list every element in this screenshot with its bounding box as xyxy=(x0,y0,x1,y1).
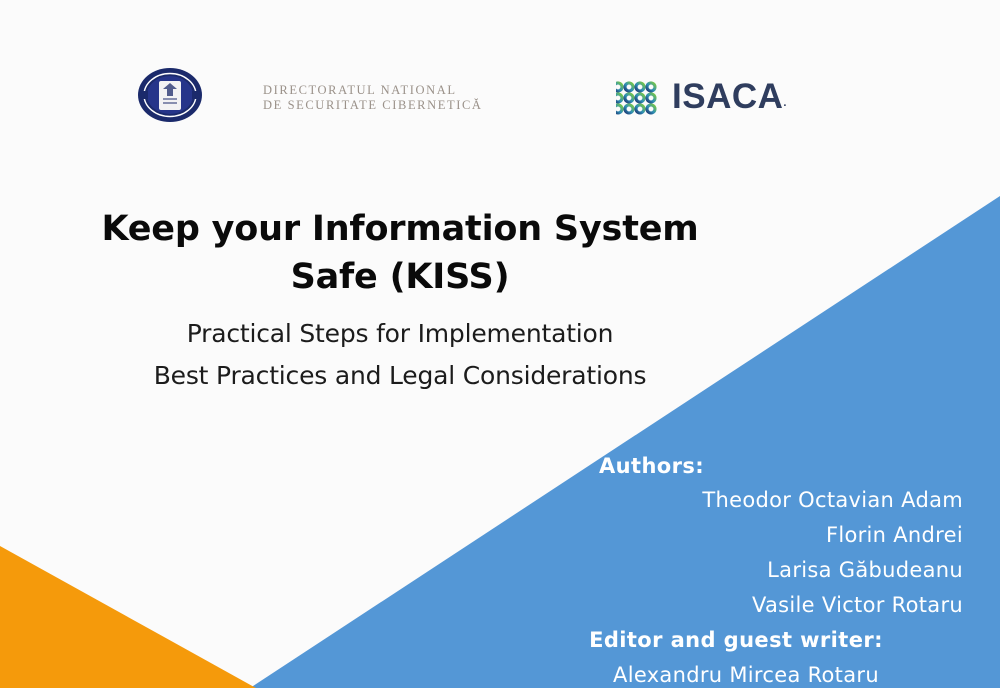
isaca-nodes-logo xyxy=(616,77,664,117)
isaca-trademark-mark: . xyxy=(783,97,786,109)
orange-triangle-shape xyxy=(0,546,256,688)
authors-label: Authors: xyxy=(533,450,963,483)
page-title-line-1: Keep your Information System xyxy=(0,205,800,253)
page-subtitle-line-1: Practical Steps for Implementation xyxy=(0,313,800,355)
credits-block: Authors: Theodor Octavian Adam Florin An… xyxy=(533,450,963,688)
author-name: Florin Andrei xyxy=(533,518,963,553)
editor-name: Alexandru Mircea Rotaru xyxy=(533,658,963,688)
editor-label: Editor and guest writer: xyxy=(533,623,963,658)
author-name: Vasile Victor Rotaru xyxy=(533,588,963,623)
dnsc-organization-name: DIRECTORATUL NATIONAL DE SECURITATE CIBE… xyxy=(263,83,533,113)
isaca-wordmark-text: ISACA xyxy=(672,77,783,116)
dnsc-coat-of-arms-logo xyxy=(137,66,203,124)
page-subtitle-line-2: Best Practices and Legal Considerations xyxy=(0,355,800,397)
page-title-line-2: Safe (KISS) xyxy=(0,253,800,301)
author-name: Theodor Octavian Adam xyxy=(533,483,963,518)
isaca-wordmark: ISACA. xyxy=(672,78,786,122)
title-block: Keep your Information System Safe (KISS)… xyxy=(0,205,800,397)
author-name: Larisa Găbudeanu xyxy=(533,553,963,588)
logo-row: DIRECTORATUL NATIONAL DE SECURITATE CIBE… xyxy=(0,32,1000,102)
document-cover-page: DIRECTORATUL NATIONAL DE SECURITATE CIBE… xyxy=(0,0,1000,688)
